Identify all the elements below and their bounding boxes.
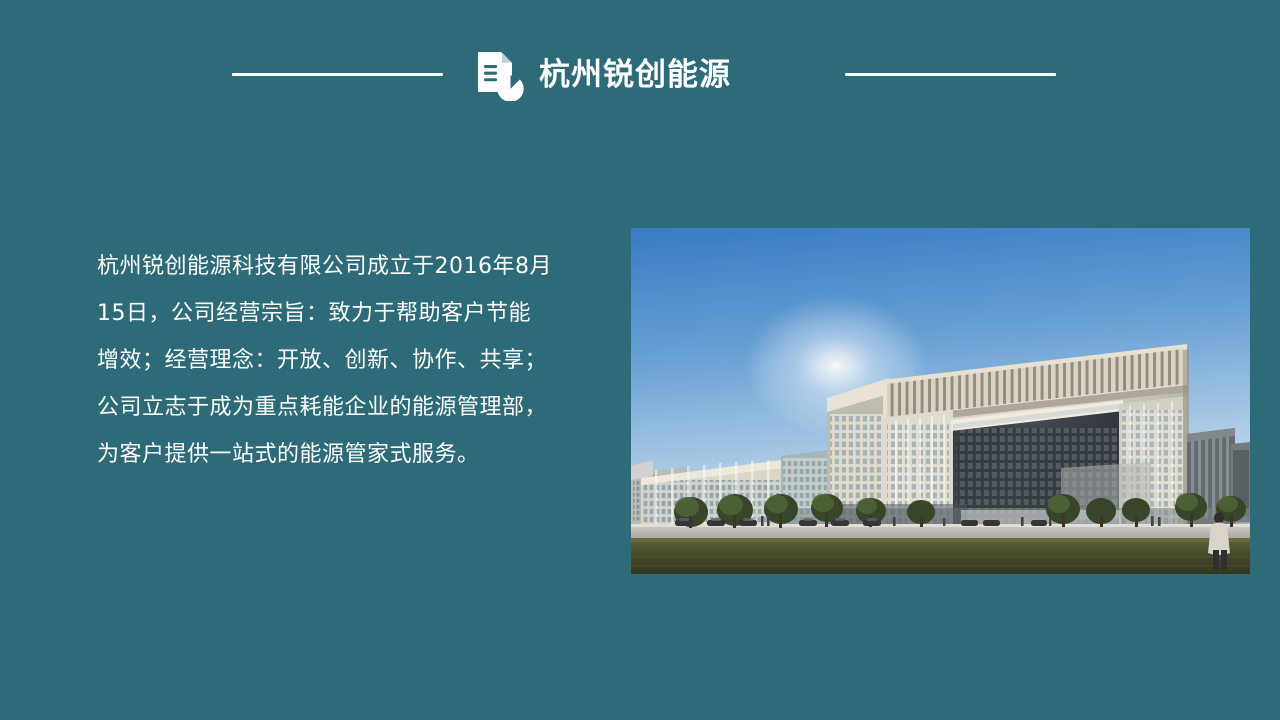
header-divider-right: [845, 73, 1056, 76]
slide-header: 杭州锐创能源: [0, 0, 1280, 150]
slide-root: 杭州锐创能源 杭州锐创能源科技有限公司成立于2016年8月 15日，公司经营宗旨…: [0, 0, 1280, 720]
header-divider-left: [232, 73, 443, 76]
description-line-3: 增效；经营理念：开放、创新、协作、共享；: [97, 337, 597, 384]
company-description: 杭州锐创能源科技有限公司成立于2016年8月 15日，公司经营宗旨：致力于帮助客…: [97, 243, 597, 478]
document-chart-icon: [472, 49, 524, 101]
description-line-5: 为客户提供一站式的能源管家式服务。: [97, 431, 597, 478]
description-line-2: 15日，公司经营宗旨：致力于帮助客户节能: [97, 290, 597, 337]
description-line-1: 杭州锐创能源科技有限公司成立于2016年8月: [97, 243, 597, 290]
header-title: 杭州锐创能源: [539, 60, 731, 91]
description-line-4: 公司立志于成为重点耗能企业的能源管理部，: [97, 384, 597, 431]
office-building-photo: [631, 228, 1250, 574]
building-illustration: [631, 228, 1250, 574]
brand-block: 杭州锐创能源: [472, 48, 731, 102]
